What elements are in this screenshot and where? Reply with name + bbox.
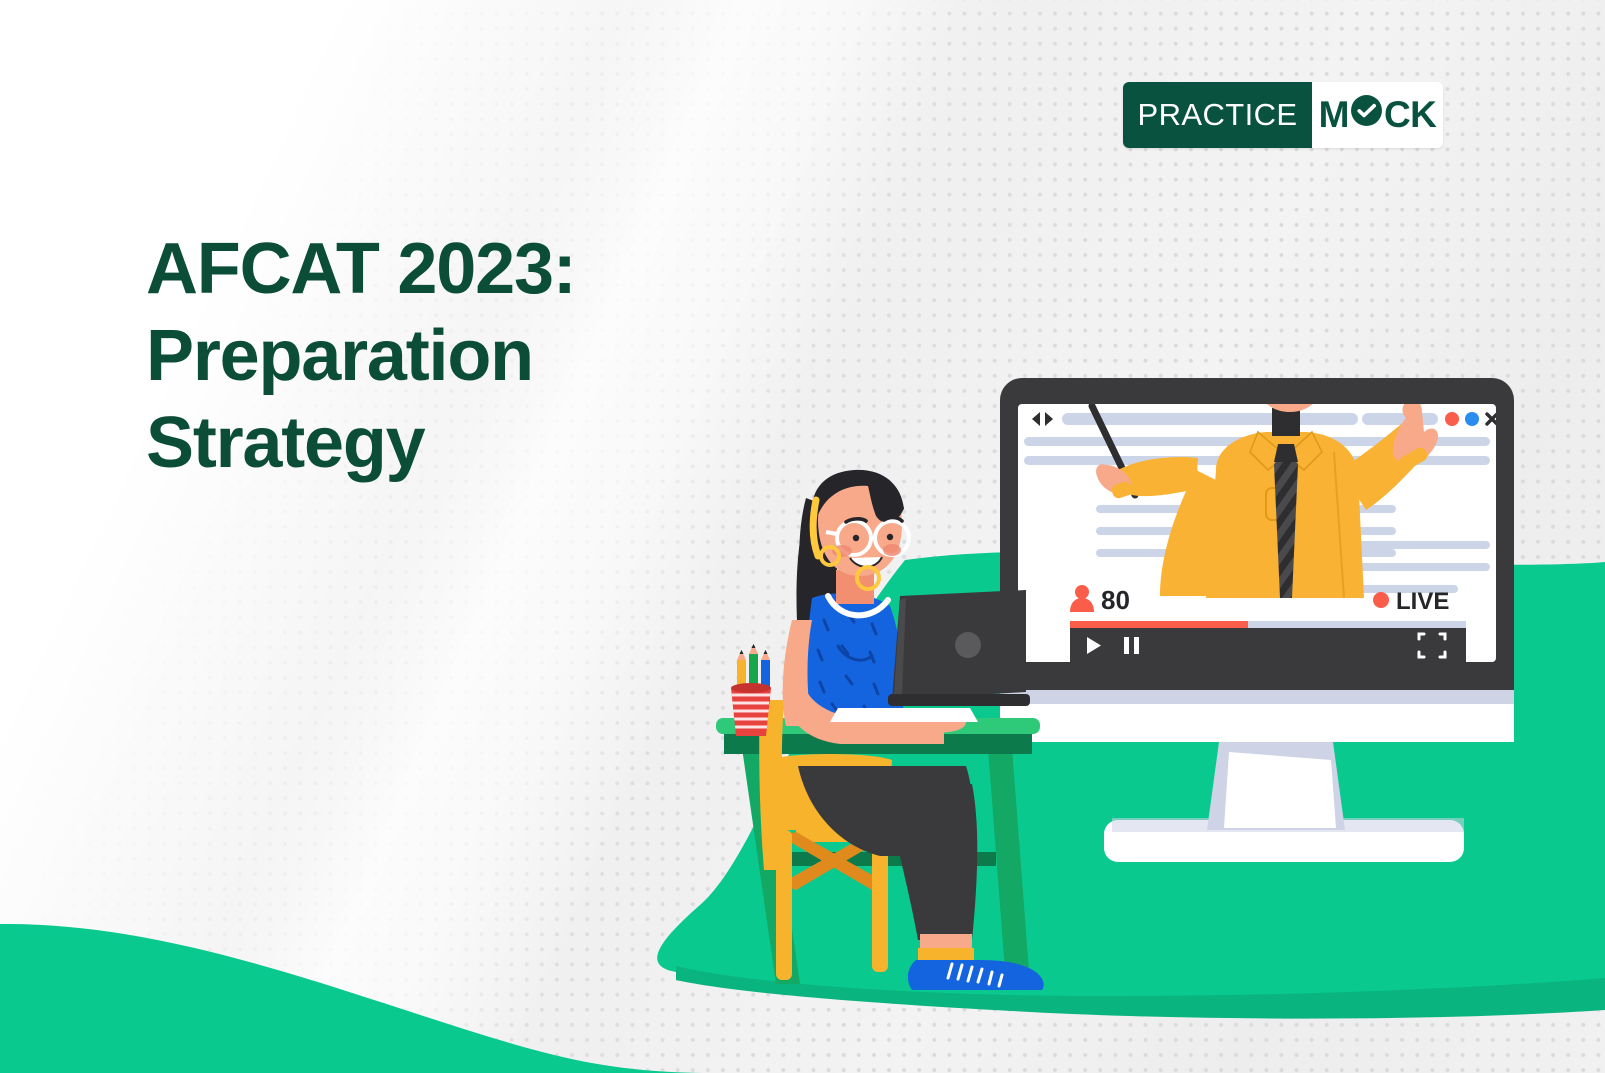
progress-fill [1070, 621, 1248, 628]
online-class-illustration: 80 LIVE [0, 0, 1605, 1073]
banner-canvas: PRACTICE M CK AFCAT 2023: Preparation St… [0, 0, 1605, 1073]
live-dot-icon [1373, 592, 1389, 608]
chair-leg-left [776, 830, 792, 980]
window-dot-blue[interactable] [1465, 412, 1479, 426]
player-controls-bar [1070, 628, 1466, 662]
window-dot-red[interactable] [1445, 412, 1459, 426]
student-socks [918, 948, 974, 962]
screen-content: 80 LIVE [1018, 302, 1497, 662]
keyboard [830, 708, 978, 722]
laptop-logo-icon [955, 632, 981, 658]
video-player-bar [1070, 621, 1466, 662]
live-label: LIVE [1396, 588, 1449, 615]
viewer-count-label: 80 [1101, 585, 1130, 615]
url-bar-extra[interactable] [1362, 413, 1438, 425]
url-bar[interactable] [1062, 413, 1358, 425]
laptop-base [888, 694, 1030, 706]
